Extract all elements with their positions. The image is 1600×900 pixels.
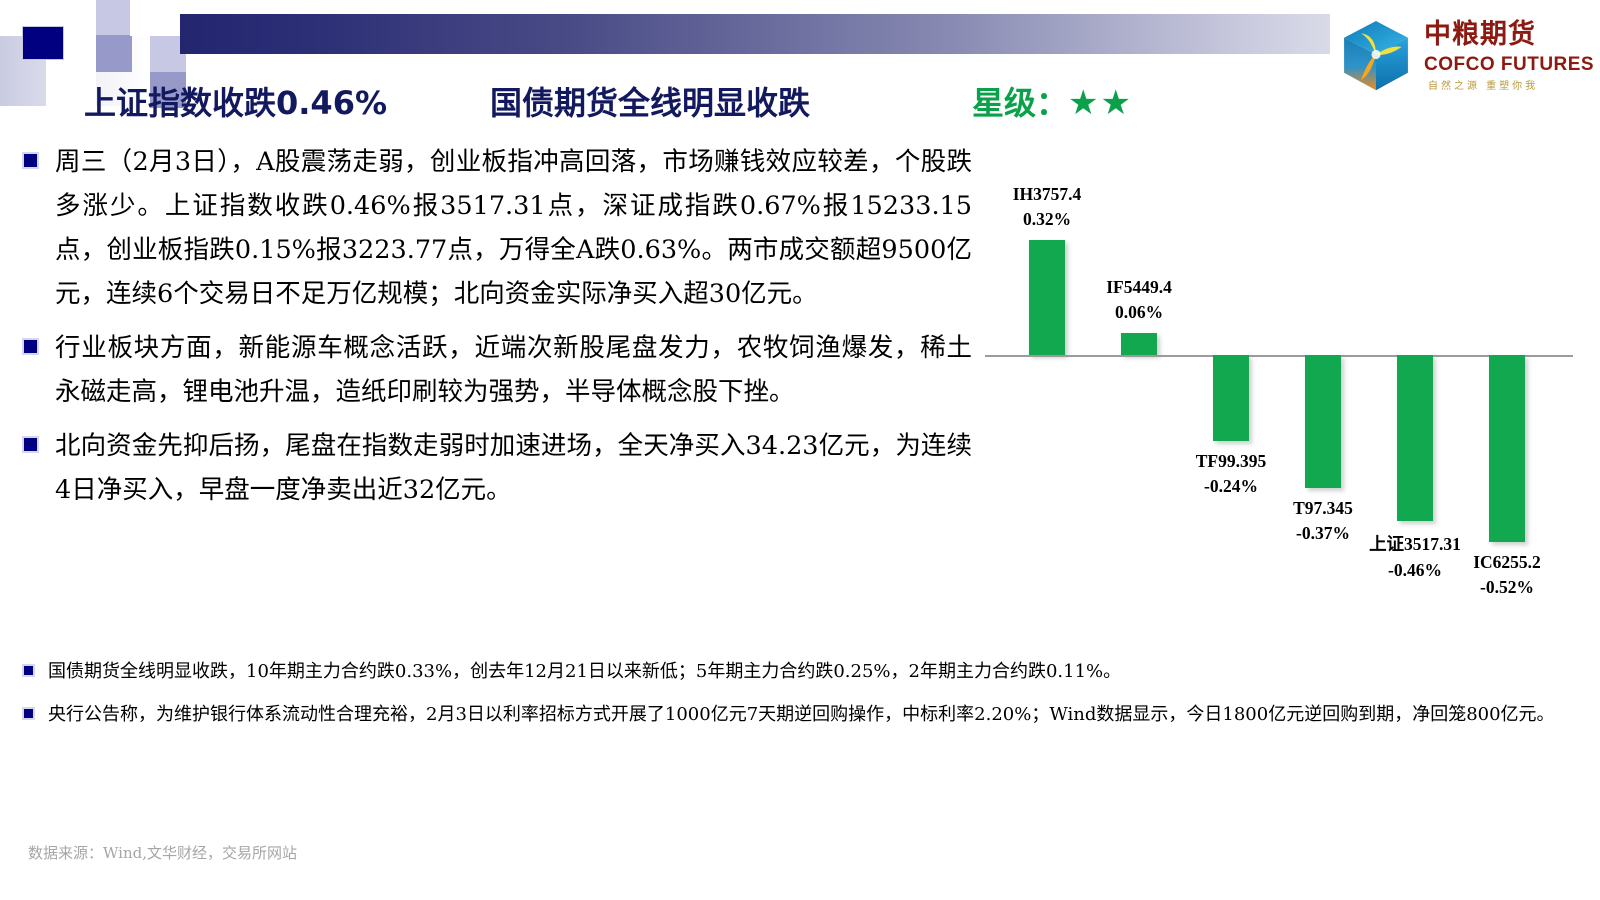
logo-brand-cn: 中粮期货 [1424, 20, 1536, 50]
page-title-part-1: 上证指数收跌0.46% [84, 78, 387, 124]
chart-bar-label: IC6255.2-0.52% [1432, 552, 1582, 598]
list-item: 国债期货全线明显收跌，10年期主力合约跌0.33%，创去年12月21日以来新低；… [22, 655, 1578, 688]
chart-bar [1305, 355, 1341, 488]
chart-bar-label: IF5449.40.06% [1064, 277, 1214, 323]
index-change-bar-chart: IH3757.40.32%IF5449.40.06%TF99.395-0.24%… [985, 175, 1585, 605]
chart-bar [1397, 355, 1433, 521]
bullet-square-icon [22, 707, 35, 720]
bullet-text: 国债期货全线明显收跌，10年期主力合约跌0.33%，创去年12月21日以来新低；… [48, 655, 1121, 688]
star-rating-stars: ★★ [1068, 83, 1133, 123]
page-title-part-2: 国债期货全线明显收跌 [490, 78, 810, 124]
slide-title-row: 上证指数收跌0.46% 国债期货全线明显收跌 星级：★★ [0, 78, 1600, 124]
bullet-text: 行业板块方面，新能源车概念活跃，近端次新股尾盘发力，农牧饲渔爆发，稀土永磁走高，… [55, 326, 972, 414]
bullet-square-icon [22, 338, 39, 355]
bullet-square-icon [22, 436, 39, 453]
list-item: 行业板块方面，新能源车概念活跃，近端次新股尾盘发力，农牧饲渔爆发，稀土永磁走高，… [22, 326, 972, 414]
data-source-footer: 数据来源：Wind,文华财经，交易所网站 [28, 842, 297, 863]
main-bullet-list: 周三（2月3日），A股震荡走弱，创业板指冲高回落，市场赚钱效应较差，个股跌多涨少… [22, 140, 972, 522]
chart-bar [1213, 355, 1249, 441]
secondary-bullet-list: 国债期货全线明显收跌，10年期主力合约跌0.33%，创去年12月21日以来新低；… [22, 655, 1578, 741]
bullet-text: 央行公告称，为维护银行体系流动性合理充裕，2月3日以利率招标方式开展了1000亿… [48, 698, 1555, 731]
header-square-mid-3 [96, 35, 130, 72]
chart-bar-label: IH3757.40.32% [972, 184, 1122, 230]
star-rating-label: 星级： [972, 84, 1068, 122]
list-item: 央行公告称，为维护银行体系流动性合理充裕，2月3日以利率招标方式开展了1000亿… [22, 698, 1578, 731]
bullet-square-icon [22, 152, 39, 169]
logo-brand-en: COFCO FUTURES [1424, 54, 1594, 76]
chart-bar [1029, 240, 1065, 355]
chart-plot-area: IH3757.40.32%IF5449.40.06%TF99.395-0.24%… [985, 175, 1585, 605]
star-rating: 星级：★★ [972, 78, 1133, 124]
list-item: 周三（2月3日），A股震荡走弱，创业板指冲高回落，市场赚钱效应较差，个股跌多涨少… [22, 140, 972, 316]
list-item: 北向资金先抑后扬，尾盘在指数走弱时加速进场，全天净买入34.23亿元，为连续4日… [22, 424, 972, 512]
chart-zero-axis-line [985, 355, 1573, 357]
chart-bar [1489, 355, 1525, 542]
bullet-text: 周三（2月3日），A股震荡走弱，创业板指冲高回落，市场赚钱效应较差，个股跌多涨少… [55, 140, 972, 316]
chart-bar [1121, 333, 1157, 355]
header-square-navy-top [22, 26, 64, 60]
bullet-text: 北向资金先抑后扬，尾盘在指数走弱时加速进场，全天净买入34.23亿元，为连续4日… [55, 424, 972, 512]
header-square-light-3 [96, 0, 130, 35]
chart-bar-label: TF99.395-0.24% [1156, 451, 1306, 497]
bullet-square-icon [22, 664, 35, 677]
